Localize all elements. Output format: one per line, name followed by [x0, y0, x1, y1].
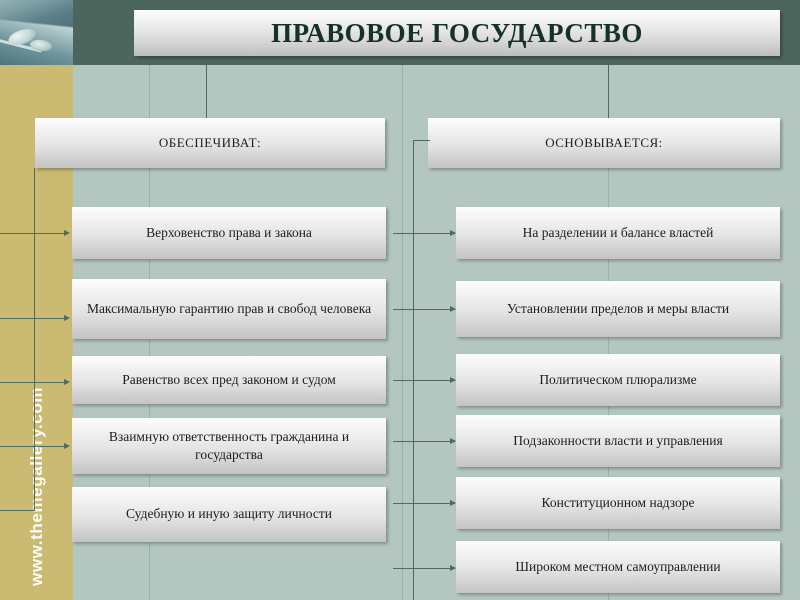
connector-lead-left-1 [0, 233, 65, 234]
connector-stem-left [206, 65, 207, 120]
connector-lead-right-4 [393, 441, 455, 442]
branch-head-right-label: ОСНОВЫВАЕТСЯ: [545, 134, 663, 152]
branch-item-right-4[interactable]: Подзаконности власти и управления [456, 415, 780, 467]
branch-item-right-1[interactable]: На разделении и балансе властей [456, 207, 780, 259]
connector-arrow-left-2 [64, 315, 70, 321]
background-divider-2 [402, 65, 403, 600]
branch-head-left[interactable]: ОБЕСПЕЧИВАТ: [35, 118, 385, 168]
branch-head-left-label: ОБЕСПЕЧИВАТ: [159, 134, 261, 152]
decorative-photo [0, 0, 73, 65]
connector-lead-right-3 [393, 380, 455, 381]
branch-item-right-5[interactable]: Конституционном надзоре [456, 477, 780, 529]
branch-item-left-4[interactable]: Взаимную ответственность гражданина и го… [72, 418, 386, 474]
connector-arrow-left-4 [64, 443, 70, 449]
connector-lead-right-5 [393, 503, 455, 504]
connector-lead-right-1 [393, 233, 455, 234]
branch-item-right-2-label: Установлении пределов и меры власти [507, 300, 729, 318]
connector-spine-left [34, 168, 35, 510]
branch-item-left-5-label: Судебную и иную защиту личности [126, 505, 332, 523]
connector-spine-right-top [413, 140, 430, 141]
branch-item-right-3[interactable]: Политическом плюрализме [456, 354, 780, 406]
connector-lead-left-4 [0, 446, 65, 447]
connector-lead-right-2 [393, 309, 455, 310]
branch-item-right-1-label: На разделении и балансе властей [523, 224, 714, 242]
branch-item-right-3-label: Политическом плюрализме [539, 371, 696, 389]
branch-item-right-4-label: Подзаконности власти и управления [513, 432, 722, 450]
branch-item-left-1[interactable]: Верховенство права и закона [72, 207, 386, 259]
branch-item-left-2-label: Максимальную гарантию прав и свобод чело… [87, 300, 371, 318]
slide-title-box: ПРАВОВОЕ ГОСУДАРСТВО [134, 10, 780, 56]
branch-item-right-6[interactable]: Широком местном самоуправлении [456, 541, 780, 593]
branch-item-left-2[interactable]: Максимальную гарантию прав и свобод чело… [72, 279, 386, 339]
branch-item-right-5-label: Конституционном надзоре [542, 494, 695, 512]
connector-arrow-left-3 [64, 379, 70, 385]
connector-lead-left-3 [0, 382, 65, 383]
connector-arrow-left-1 [64, 230, 70, 236]
branch-head-right[interactable]: ОСНОВЫВАЕТСЯ: [428, 118, 780, 168]
watermark: www.themegallery.com [27, 387, 47, 586]
branch-item-left-4-label: Взаимную ответственность гражданина и го… [82, 428, 376, 464]
connector-spine-right [413, 140, 414, 600]
branch-item-left-3-label: Равенство всех пред законом и судом [122, 371, 336, 389]
slide-title: ПРАВОВОЕ ГОСУДАРСТВО [271, 18, 643, 49]
connector-spine-left-foot [0, 510, 35, 511]
branch-item-left-5[interactable]: Судебную и иную защиту личности [72, 487, 386, 542]
slide-canvas: ПРАВОВОЕ ГОСУДАРСТВО www.themegallery.co… [0, 0, 800, 600]
connector-stem-right [608, 65, 609, 120]
branch-item-right-6-label: Широком местном самоуправлении [515, 558, 720, 576]
connector-lead-left-2 [0, 318, 65, 319]
connector-lead-right-6 [393, 568, 455, 569]
branch-item-right-2[interactable]: Установлении пределов и меры власти [456, 281, 780, 337]
branch-item-left-3[interactable]: Равенство всех пред законом и судом [72, 356, 386, 404]
branch-item-left-1-label: Верховенство права и закона [146, 224, 312, 242]
